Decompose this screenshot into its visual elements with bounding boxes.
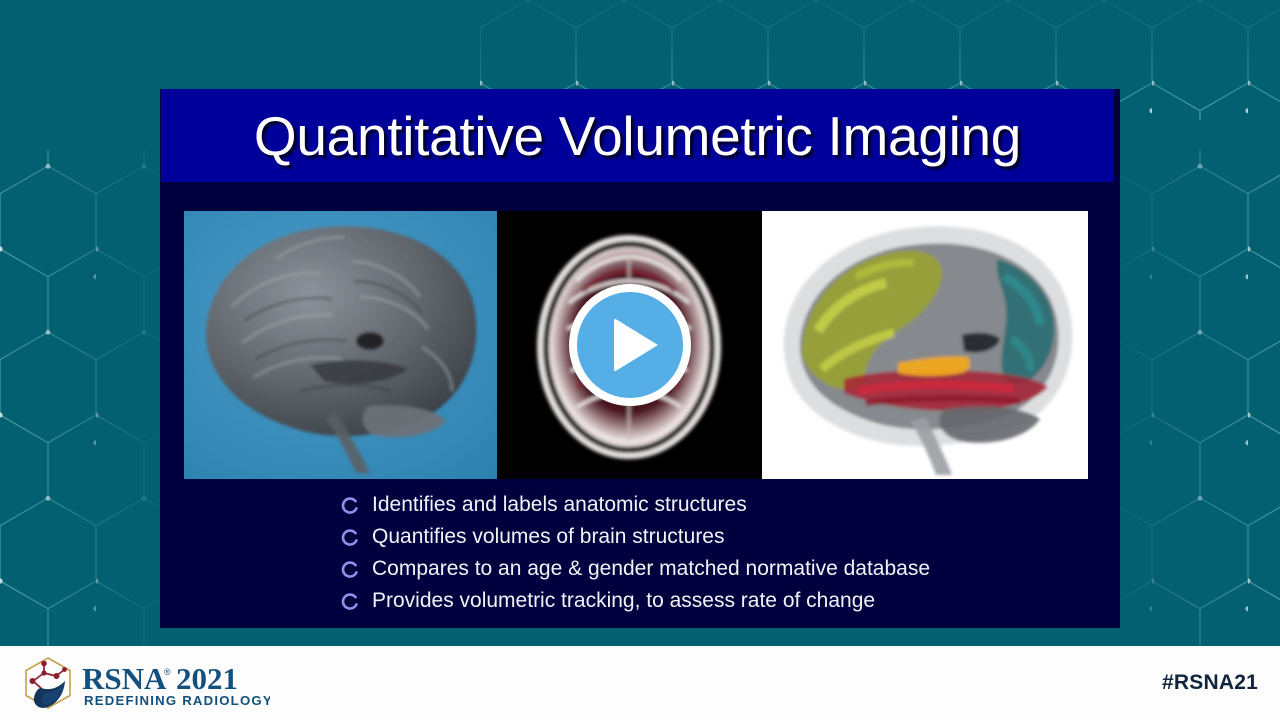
slide-title-banner: Quantitative Volumetric Imaging bbox=[161, 89, 1114, 182]
broken-ring-bullet-icon bbox=[340, 560, 360, 580]
presentation-slide: Quantitative Volumetric Imaging bbox=[160, 89, 1120, 628]
broken-ring-bullet-icon bbox=[340, 496, 360, 516]
media-strip bbox=[184, 211, 1096, 479]
svg-text:REDEFINING RADIOLOGY: REDEFINING RADIOLOGY bbox=[84, 693, 270, 708]
svg-text:RSNA: RSNA bbox=[82, 661, 167, 696]
broken-ring-bullet-icon bbox=[340, 528, 360, 548]
broken-ring-bullet-icon bbox=[340, 592, 360, 612]
list-item: Quantifies volumes of brain structures bbox=[340, 521, 1080, 553]
brain-segmented-colored-image bbox=[762, 211, 1088, 479]
footer-bar: RSNA ® 2021 REDEFINING RADIOLOGY #RSNA21 bbox=[0, 646, 1280, 720]
list-item-label: Quantifies volumes of brain structures bbox=[372, 521, 725, 553]
rsna-2021-logo: RSNA ® 2021 REDEFINING RADIOLOGY bbox=[18, 655, 270, 711]
brain-3d-render-gray-image bbox=[184, 211, 497, 479]
list-item: Compares to an age & gender matched norm… bbox=[340, 553, 1080, 585]
list-item: Identifies and labels anatomic structure… bbox=[340, 489, 1080, 521]
svg-text:2021: 2021 bbox=[176, 661, 238, 696]
brain-axial-scan-video[interactable] bbox=[497, 211, 762, 479]
list-item-label: Compares to an age & gender matched norm… bbox=[372, 553, 930, 585]
bullet-list: Identifies and labels anatomic structure… bbox=[340, 489, 1080, 617]
page-title: Quantitative Volumetric Imaging bbox=[254, 104, 1021, 168]
play-triangle-icon bbox=[614, 318, 658, 372]
list-item-label: Provides volumetric tracking, to assess … bbox=[372, 585, 875, 617]
svg-text:®: ® bbox=[164, 667, 171, 677]
event-hashtag: #RSNA21 bbox=[1162, 646, 1258, 720]
play-button-icon[interactable] bbox=[569, 284, 691, 406]
list-item-label: Identifies and labels anatomic structure… bbox=[372, 489, 747, 521]
list-item: Provides volumetric tracking, to assess … bbox=[340, 585, 1080, 617]
